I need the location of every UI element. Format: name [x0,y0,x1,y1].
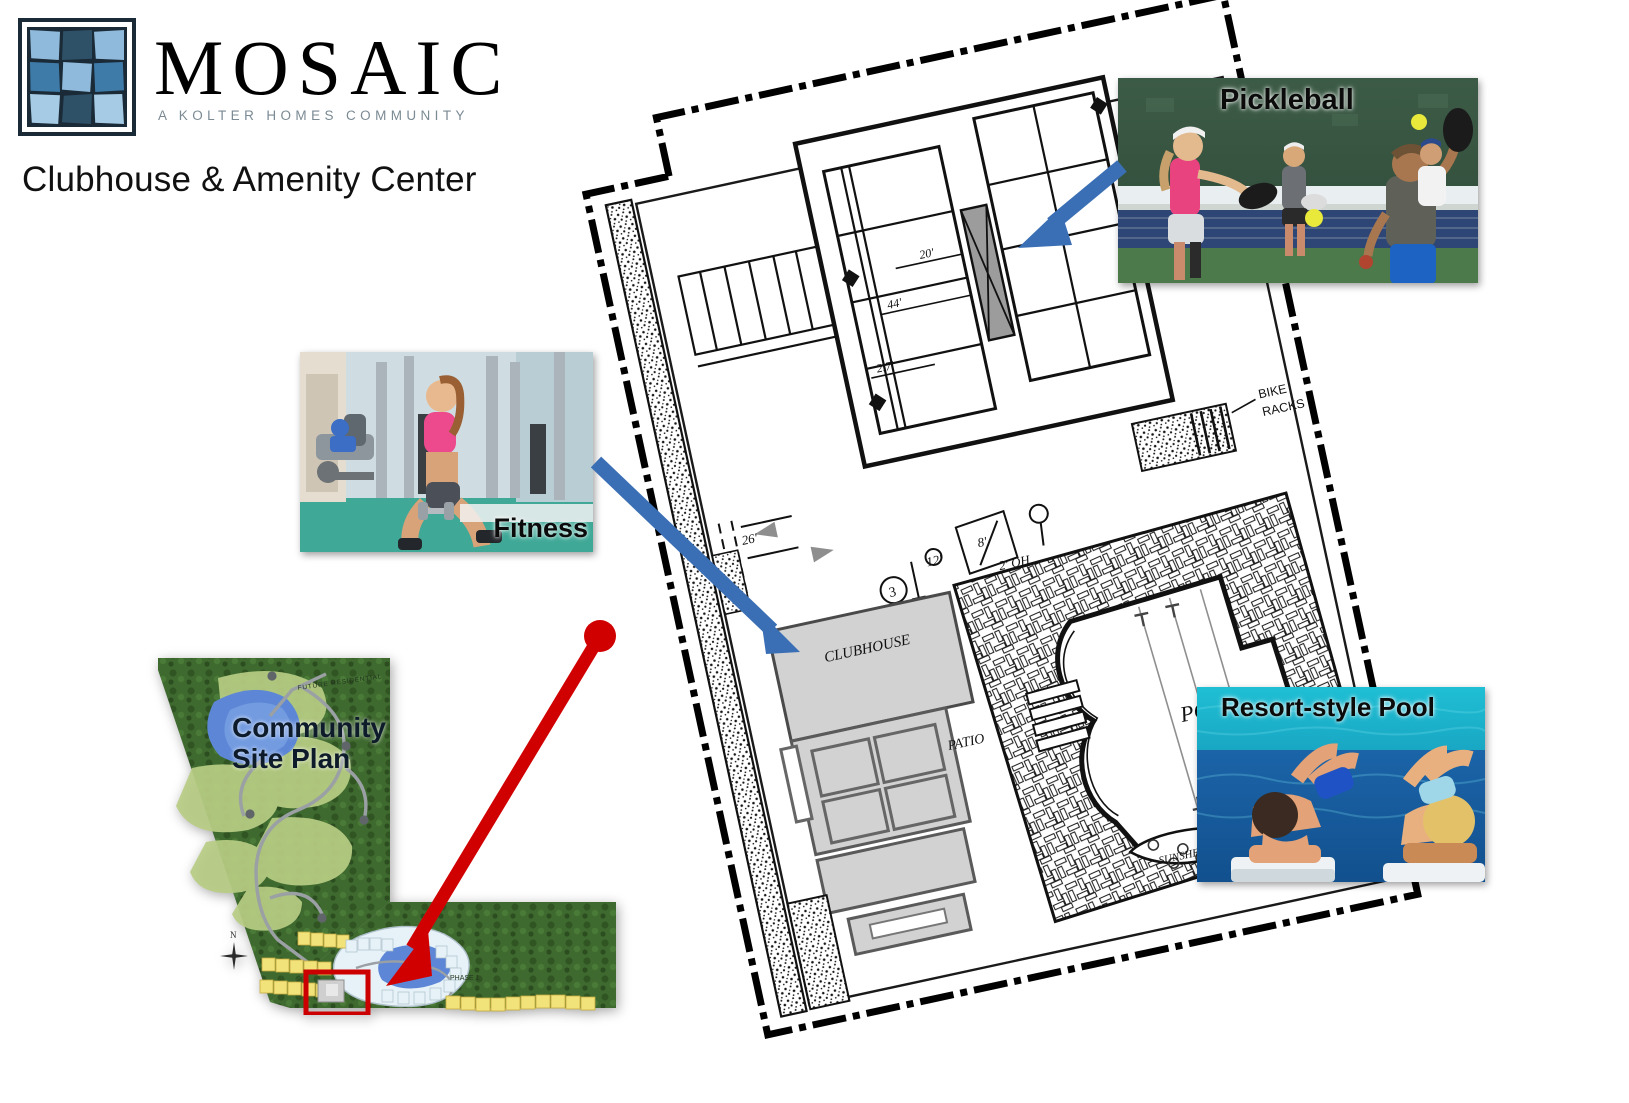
pickleball-caption: Pickleball [1220,84,1354,117]
logo-tile-5 [62,62,92,92]
photo-card-pickleball[interactable]: Pickleball [1118,78,1478,283]
parking-stalls [679,247,837,367]
landscape-band [606,200,807,1017]
logo-tile-8 [62,94,92,124]
logo-tile-2 [62,30,92,60]
label-phase-1: PHASE 1 [450,975,480,982]
photo-card-fitness[interactable]: Fitness [300,352,593,552]
svg-text:3: 3 [888,585,898,601]
slide-canvas: MOSAIC A KOLTER HOMES COMMUNITY Clubhous… [0,0,1629,1103]
pool-caption: Resort-style Pool [1221,692,1435,723]
brand-block: MOSAIC A KOLTER HOMES COMMUNITY Clubhous… [18,18,478,200]
dim-26ft: 26' [740,530,759,548]
logo-tile-3 [94,30,124,60]
pickleball-courts: 20' 44' 2.7' [795,77,1173,466]
logo-tile-7 [30,94,60,124]
clubhouse-footprint-on-site [318,980,344,1002]
logo-row: MOSAIC A KOLTER HOMES COMMUNITY [18,18,478,136]
logo-tile-6 [94,62,124,92]
mosaic-tile-logo-icon [18,18,136,136]
logo-tile-4 [30,62,60,92]
page-title: Clubhouse & Amenity Center [22,160,478,200]
logo-tile-9 [94,94,124,124]
label-bike: BIKE [1257,382,1288,402]
compass-rose-icon: N [220,930,248,970]
pickleball-ball [1411,114,1427,130]
fitness-caption: Fitness [493,513,588,544]
svg-text:N: N [230,930,237,940]
photo-card-pool[interactable]: Resort-style Pool [1197,687,1485,882]
logo-tile-1 [30,30,60,60]
community-site-plan-image[interactable]: FUTURE RESIDENTIAL [150,650,620,1015]
